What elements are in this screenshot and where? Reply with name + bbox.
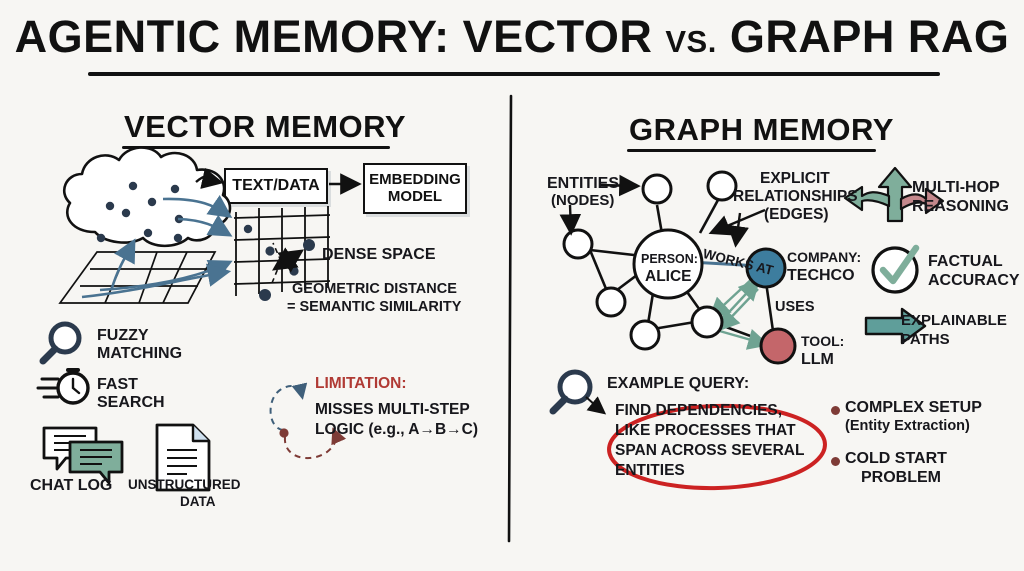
infographic-canvas: AGENTIC MEMORY: VECTOR VS. GRAPH RAG VEC… xyxy=(0,0,1024,571)
person-node-line1: PERSON: xyxy=(641,252,698,266)
tool-node-line1: TOOL: xyxy=(801,334,844,350)
person-node-line2: ALICE xyxy=(645,268,692,285)
drawback-bullet xyxy=(831,457,840,466)
multi-hop-line1: MULTI-HOP xyxy=(912,179,1000,197)
multi-hop-line2: REASONING xyxy=(912,198,1009,216)
factual-line1: FACTUAL xyxy=(928,253,1003,271)
graph-node-hub xyxy=(692,307,722,337)
drawback-bullet xyxy=(831,406,840,415)
query-line3: SPAN ACROSS SEVERAL xyxy=(615,442,804,459)
tool-llm-node xyxy=(761,329,795,363)
uses-edge-label: USES xyxy=(775,299,815,315)
edges-down-arrow xyxy=(736,213,740,243)
factual-line2: ACCURACY xyxy=(928,272,1020,290)
drawback-2-line1: COLD START xyxy=(845,450,947,468)
query-line1: FIND DEPENDENCIES, xyxy=(615,402,782,419)
query-line2: LIKE PROCESSES THAT xyxy=(615,422,796,439)
graph-node xyxy=(708,172,736,200)
explicit-line2: RELATIONSHIPS xyxy=(733,188,858,205)
graph-node xyxy=(564,230,592,258)
query-line4: ENTITIES xyxy=(615,462,685,479)
graph-node xyxy=(631,321,659,349)
entities-line1: ENTITIES xyxy=(547,175,619,193)
query-magnifier-icon xyxy=(553,372,603,412)
entities-line2: (NODES) xyxy=(551,193,614,210)
explicit-line3: (EDGES) xyxy=(764,206,829,223)
example-query-label: EXAMPLE QUERY: xyxy=(607,375,749,393)
company-node-line2: TECHCO xyxy=(787,267,855,285)
graph-node xyxy=(597,288,625,316)
explainable-line2: PATHS xyxy=(901,332,950,349)
tool-node-line2: LLM xyxy=(801,351,834,369)
check-circle-icon xyxy=(873,248,917,292)
explainable-line1: EXPLAINABLE xyxy=(901,313,1007,330)
graph-node xyxy=(643,175,671,203)
drawback-1-line1: COMPLEX SETUP xyxy=(845,399,982,417)
drawback-1-line2: (Entity Extraction) xyxy=(845,418,970,434)
company-node-line1: COMPANY: xyxy=(787,250,861,266)
drawback-2-line2: PROBLEM xyxy=(861,469,941,487)
explicit-line1: EXPLICIT xyxy=(760,170,830,187)
